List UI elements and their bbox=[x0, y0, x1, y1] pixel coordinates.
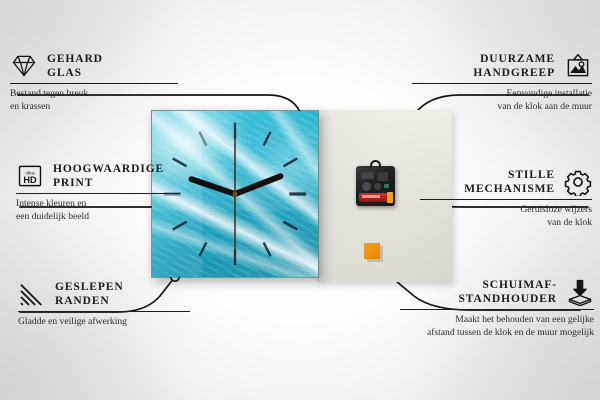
feature-desc-line1: Gladde en veilige afwerking bbox=[18, 316, 190, 328]
feature-gehard-glas[interactable]: GEHARD GLAS Bestand tegen breuk en krass… bbox=[10, 52, 178, 113]
feature-divider bbox=[400, 309, 594, 310]
feature-head: GEHARD GLAS bbox=[10, 52, 178, 80]
feature-title: HOOGWAARDIGE PRINT bbox=[53, 162, 164, 190]
feature-description: Geruisloze wijzers van de klok bbox=[420, 204, 592, 229]
feature-head: SCHUIMAF- STANDHOUDER bbox=[400, 278, 594, 306]
feature-head: STILLE MECHANISME bbox=[420, 168, 592, 196]
feature-description: Eenvoudige installatie van de klok aan d… bbox=[412, 88, 592, 113]
feature-hoogwaardige-print[interactable]: ultra HD HOOGWAARDIGE PRINT Intense kleu… bbox=[16, 162, 180, 223]
feature-desc-line2: van de klok aan de muur bbox=[412, 101, 592, 113]
feature-desc-line2: een duidelijk beeld bbox=[16, 211, 180, 223]
feature-title-line2: GLAS bbox=[47, 66, 103, 80]
feature-title: SCHUIMAF- STANDHOUDER bbox=[458, 278, 557, 306]
feature-title: GESLEPEN RANDEN bbox=[55, 280, 124, 308]
feature-desc-line2: en krassen bbox=[10, 101, 178, 113]
diamond-icon bbox=[10, 52, 38, 80]
feature-title-line1: SCHUIMAF- bbox=[458, 278, 557, 292]
feature-desc-line2: afstand tussen de klok en de muur mogeli… bbox=[400, 327, 594, 339]
feature-title-line1: STILLE bbox=[464, 168, 555, 182]
feature-desc-line1: Eenvoudige installatie bbox=[412, 88, 592, 100]
feature-title-line1: DUURZAME bbox=[473, 52, 555, 66]
feature-title: GEHARD GLAS bbox=[47, 52, 103, 80]
feature-title-line2: RANDEN bbox=[55, 294, 124, 308]
connector-dot-hd-print bbox=[208, 183, 216, 191]
feature-divider bbox=[10, 83, 178, 84]
feature-desc-line1: Intense kleuren en bbox=[16, 198, 180, 210]
feature-head: DUURZAME HANDGREEP bbox=[412, 52, 592, 80]
feature-title-line2: HANDGREEP bbox=[473, 66, 555, 80]
bevelled-edge-icon bbox=[18, 280, 46, 308]
connector-dot-schuimafstandhouder bbox=[373, 261, 381, 269]
feature-description: Bestand tegen breuk en krassen bbox=[10, 88, 178, 113]
feature-head: ultra HD HOOGWAARDIGE PRINT bbox=[16, 162, 180, 190]
feature-title-line1: GEHARD bbox=[47, 52, 103, 66]
feature-geslepen-randen[interactable]: GESLEPEN RANDEN Gladde en veilige afwerk… bbox=[18, 280, 190, 329]
feature-title-line2: PRINT bbox=[53, 176, 164, 190]
feature-divider bbox=[420, 199, 592, 200]
feature-title-line2: MECHANISME bbox=[464, 182, 555, 196]
feature-stille-mechanisme[interactable]: STILLE MECHANISME Geruisloze wijzers van… bbox=[420, 168, 592, 229]
feature-description: Maakt het behouden van een gelijke afsta… bbox=[400, 314, 594, 339]
ultra-hd-icon-bottom-label: HD bbox=[23, 175, 37, 185]
gear-icon bbox=[564, 168, 592, 196]
infographic-stage: GEHARD GLAS Bestand tegen breuk en krass… bbox=[0, 0, 600, 400]
feature-title: DUURZAME HANDGREEP bbox=[473, 52, 555, 80]
feature-head: GESLEPEN RANDEN bbox=[18, 280, 190, 308]
feature-divider bbox=[18, 311, 190, 312]
connector-dot-duurzame-handgreep bbox=[387, 149, 395, 157]
feature-divider bbox=[412, 83, 592, 84]
feature-description: Gladde en veilige afwerking bbox=[18, 316, 190, 328]
feature-desc-line1: Maakt het behouden van een gelijke bbox=[400, 314, 594, 326]
feature-title-line1: HOOGWAARDIGE bbox=[53, 162, 164, 176]
feature-title-line2: STANDHOUDER bbox=[458, 292, 557, 306]
connector-dot-stille-mechanisme bbox=[401, 185, 409, 193]
feature-desc-line1: Geruisloze wijzers bbox=[420, 204, 592, 216]
ultra-hd-icon: ultra HD bbox=[16, 162, 44, 190]
picture-hanging-icon bbox=[564, 52, 592, 80]
feature-desc-line1: Bestand tegen breuk bbox=[10, 88, 178, 100]
feature-title: STILLE MECHANISME bbox=[464, 168, 555, 196]
spacer-stack-icon bbox=[566, 278, 594, 306]
feature-divider bbox=[16, 193, 180, 194]
feature-schuimafstandhouder[interactable]: SCHUIMAF- STANDHOUDER Maakt het behouden… bbox=[400, 278, 594, 339]
feature-description: Intense kleuren en een duidelijk beeld bbox=[16, 198, 180, 223]
connector-dot-gehard-glas bbox=[309, 127, 317, 135]
feature-duurzame-handgreep[interactable]: DUURZAME HANDGREEP Eenvoudige installati… bbox=[412, 52, 592, 113]
feature-title-line1: GESLEPEN bbox=[55, 280, 124, 294]
feature-desc-line2: van de klok bbox=[420, 217, 592, 229]
